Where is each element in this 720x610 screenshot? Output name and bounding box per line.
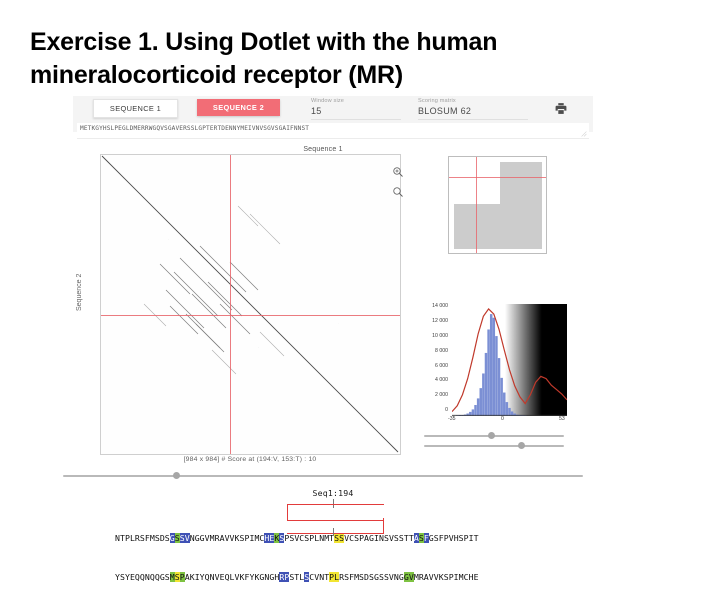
slide-root: Exercise 1. Using Dotlet with the human …	[0, 0, 720, 540]
greyscale-high-slider[interactable]	[424, 441, 564, 451]
dotlet-app-window: SEQUENCE 1 SEQUENCE 2 Window size 15 Sco…	[73, 96, 593, 540]
toolbar: SEQUENCE 1 SEQUENCE 2 Window size 15 Sco…	[73, 96, 593, 122]
histogram-x-axis: -35 0 53	[446, 416, 570, 426]
page-title: Exercise 1. Using Dotlet with the human …	[30, 26, 690, 92]
window-size-label: Window size	[311, 97, 401, 105]
x-tick: 0	[501, 416, 504, 422]
zoom-in-icon[interactable]	[392, 166, 404, 178]
sequence-text: METKGYHSLPEGLDMERRWGQVSGAVERSSLGPTERTDEN…	[80, 125, 309, 132]
plot-position-slider[interactable]	[63, 471, 583, 481]
x-tick: 53	[559, 416, 565, 422]
plot-x-axis-title: Sequence 1	[173, 146, 473, 153]
score-histogram: 14 000 12 000 10 000 8 000 6 000 4 000 2…	[418, 304, 570, 426]
field-underline	[418, 119, 528, 120]
dotplot-crosshair-vertical	[230, 155, 231, 454]
greyscale-low-slider[interactable]	[424, 431, 564, 441]
plot-y-axis-title: Sequence 2	[76, 274, 83, 311]
histogram-plot-area[interactable]	[452, 304, 567, 416]
x-tick: -35	[448, 416, 456, 422]
dotplot-canvas[interactable]	[100, 154, 401, 455]
histogram-y-axis: 14 000 12 000 10 000 8 000 6 000 4 000 2…	[418, 304, 452, 416]
y-tick: 4 000	[435, 378, 448, 383]
overview-viewport-box[interactable]	[454, 162, 500, 204]
y-tick: 6 000	[435, 364, 448, 369]
alignment-position-label: Seq1:194	[73, 488, 593, 498]
resize-grip-icon[interactable]	[581, 131, 587, 137]
slider-knob[interactable]	[173, 472, 180, 479]
overview-crosshair-vertical	[476, 157, 477, 253]
slider-knob[interactable]	[518, 442, 525, 449]
scoring-matrix-field[interactable]: Scoring matrix BLOSUM 62	[418, 97, 528, 118]
dotplot-crosshair-horizontal	[101, 315, 400, 316]
alignment-highlight-box-bottom	[287, 518, 384, 534]
overview-thumbnail[interactable]	[448, 156, 547, 254]
slider-rail	[424, 445, 564, 447]
y-tick: 2 000	[435, 393, 448, 398]
y-tick: 0	[445, 408, 448, 413]
dotplot-diagonal	[100, 154, 400, 454]
tab-sequence-2[interactable]: SEQUENCE 2	[197, 99, 280, 116]
slider-rail	[63, 475, 583, 477]
dotplot-status-text: [984 x 984] # Score at (194:V, 153:T) : …	[100, 456, 400, 463]
printer-icon[interactable]	[554, 102, 568, 115]
field-underline	[311, 119, 401, 120]
y-tick: 14 000	[432, 304, 448, 309]
sequence-strip[interactable]: METKGYHSLPEGLDMERRWGQVSGAVERSSLGPTERTDEN…	[77, 123, 589, 139]
y-tick: 12 000	[432, 319, 448, 324]
overview-crosshair-horizontal	[449, 177, 546, 178]
alignment-tick-bottom	[333, 528, 334, 536]
zoom-out-icon[interactable]	[392, 186, 404, 198]
alignment-row-2: YSYEQQNQQGSMSPAKIYQNVEQLVKFYKGNGHRPSTLSC…	[115, 571, 565, 584]
histogram-svg	[452, 304, 567, 416]
scoring-matrix-label: Scoring matrix	[418, 97, 528, 105]
y-tick: 10 000	[432, 334, 448, 339]
window-size-field[interactable]: Window size 15	[311, 97, 401, 118]
y-tick: 8 000	[435, 349, 448, 354]
slider-knob[interactable]	[488, 432, 495, 439]
window-size-value[interactable]: 15	[311, 105, 401, 118]
tab-sequence-1[interactable]: SEQUENCE 1	[93, 99, 178, 118]
scoring-matrix-value[interactable]: BLOSUM 62	[418, 105, 528, 118]
